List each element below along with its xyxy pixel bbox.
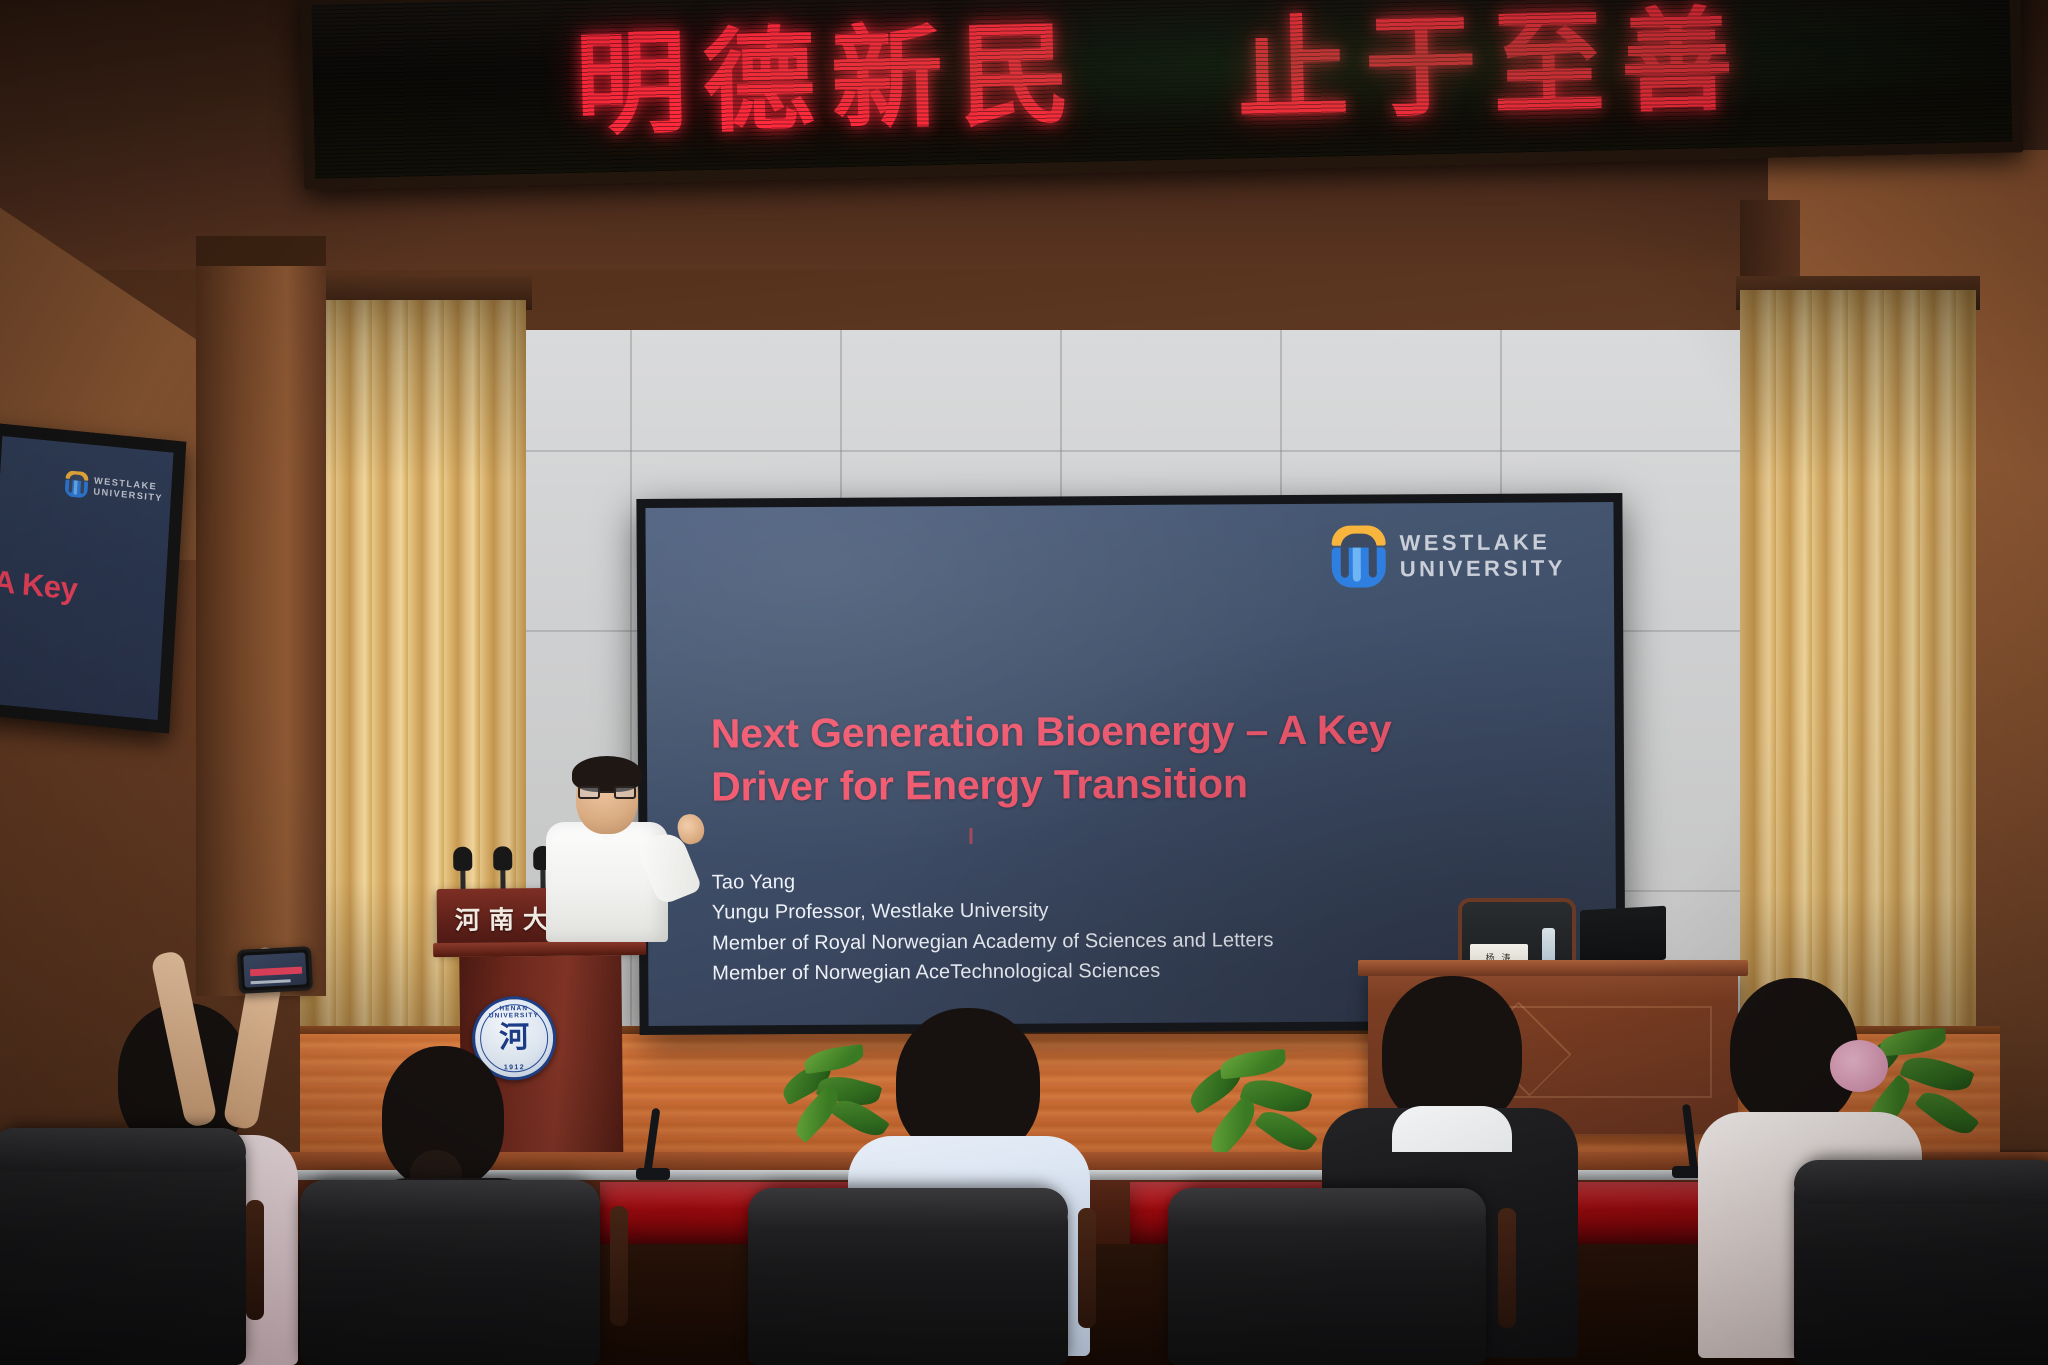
slide-cursor-mark xyxy=(969,828,972,844)
desk-top-edge xyxy=(1358,960,1748,976)
stage-desk-laptop xyxy=(1580,906,1666,965)
slide-title-line-2: Driver for Energy Transition xyxy=(711,757,1392,814)
side-monitor-logo: WESTLAKE UNIVERSITY xyxy=(64,470,164,506)
stage-pillar-left xyxy=(196,236,326,996)
logo-arc-icon xyxy=(1332,525,1386,545)
chair-headrest xyxy=(1794,1160,2048,1204)
logo-bar-icon xyxy=(1353,548,1361,582)
slide-title: Next Generation Bioenergy – A Key Driver… xyxy=(711,703,1392,814)
slide-title-line-1: Next Generation Bioenergy – A Key xyxy=(711,703,1392,760)
stage-pillar-cap xyxy=(196,236,326,266)
microphone-icon xyxy=(453,847,472,871)
smartphone-screen xyxy=(243,952,307,987)
westlake-logo-mark xyxy=(1330,525,1388,587)
audience-chair xyxy=(300,1180,600,1365)
person-hair-flower xyxy=(1830,1040,1888,1092)
slide-affiliation: Yungu Professor, Westlake University xyxy=(712,895,1274,929)
slide-membership-1: Member of Royal Norwegian Academy of Sci… xyxy=(712,925,1274,959)
chair-armrest xyxy=(1078,1208,1096,1328)
emblem-text-top: HENAN UNIVERSITY xyxy=(475,1005,553,1020)
chair-headrest xyxy=(1168,1188,1486,1232)
chair-headrest xyxy=(748,1188,1068,1232)
desk-microphone-base xyxy=(636,1168,670,1180)
slide-subtitle-block: Tao Yang Yungu Professor, Westlake Unive… xyxy=(712,864,1274,989)
side-monitor-title-fragment: – A Key xyxy=(0,561,78,607)
phone-slide-title-bar xyxy=(250,967,302,977)
audience-chair xyxy=(1794,1160,2048,1365)
logo-line-1: WESTLAKE xyxy=(1400,530,1566,557)
audience-chair xyxy=(748,1188,1068,1365)
audience-chair xyxy=(1168,1188,1486,1365)
chair-armrest xyxy=(1498,1208,1516,1328)
logo-line-2: UNIVERSITY xyxy=(1400,555,1566,582)
slide-membership-2: Member of Norwegian AceTechnological Sci… xyxy=(712,955,1274,989)
chair-armrest xyxy=(610,1206,628,1326)
westlake-logo-text: WESTLAKE UNIVERSITY xyxy=(1400,530,1566,582)
chair-armrest xyxy=(246,1200,264,1320)
audience-chair xyxy=(0,1128,246,1365)
chair-headrest xyxy=(300,1180,600,1224)
side-monitor-screen: WESTLAKE UNIVERSITY – A Key xyxy=(0,436,174,720)
westlake-logo: WESTLAKE UNIVERSITY xyxy=(1330,524,1566,587)
led-banner-text-right: 止于至善 xyxy=(1236,4,1750,127)
slide-speaker-name: Tao Yang xyxy=(712,864,1274,898)
smartphone[interactable] xyxy=(237,946,313,994)
phone-slide-subtitle-bar xyxy=(251,979,291,984)
chair-headrest xyxy=(0,1128,246,1172)
glasses-icon xyxy=(578,786,636,799)
lecture-hall-photo: WESTLAKE UNIVERSITY Next Generation Bioe… xyxy=(0,0,2048,1365)
led-banner-text-left: 明德新民 xyxy=(574,19,1088,142)
microphone-icon xyxy=(493,846,512,870)
person-shirt-collar xyxy=(1392,1106,1512,1152)
speaker-at-podium xyxy=(520,760,710,940)
side-monitor: WESTLAKE UNIVERSITY – A Key xyxy=(0,423,186,734)
